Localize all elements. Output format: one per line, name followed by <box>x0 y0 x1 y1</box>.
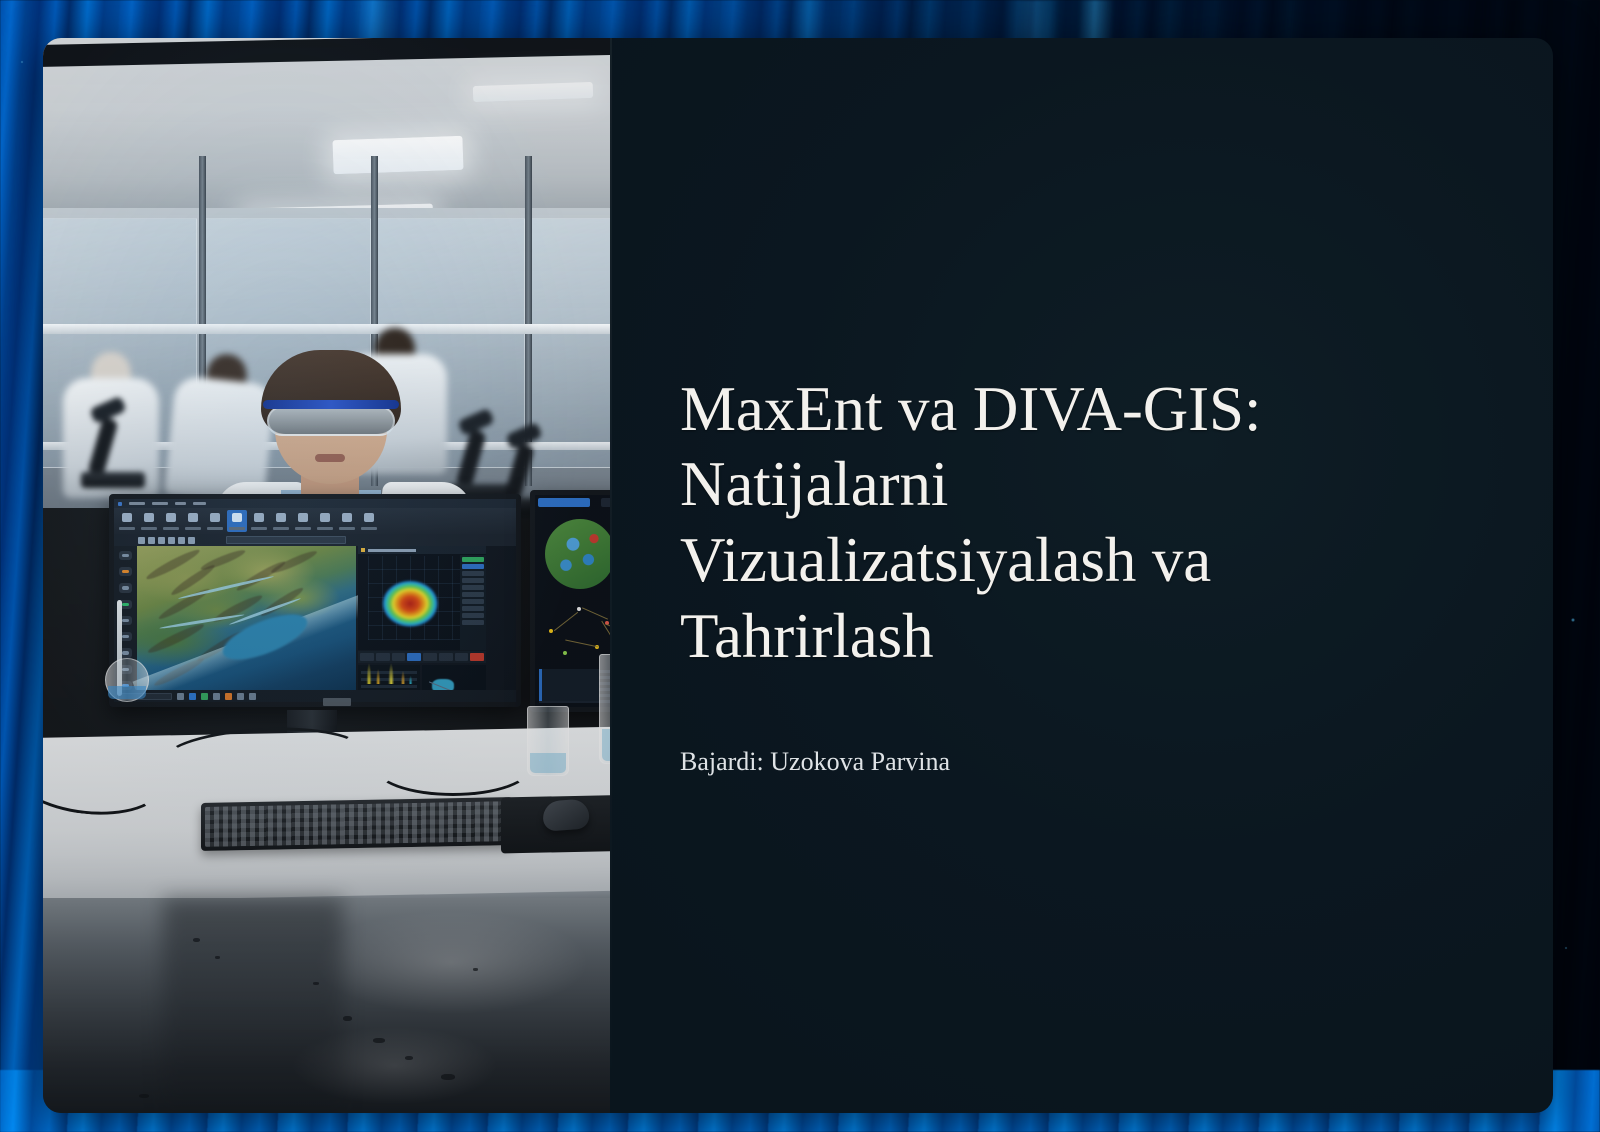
spectral-histogram-panel <box>358 665 420 690</box>
slide-text-panel: MaxEnt va DIVA-GIS: Natijalarni Vizualiz… <box>610 38 1553 1113</box>
ribbon-tool <box>249 510 269 532</box>
slide-subtitle-author: Bajardi: Uzokova Parvina <box>680 744 1489 779</box>
glass-beaker <box>527 706 569 776</box>
raster-icon <box>119 567 132 576</box>
ribbon-tool <box>337 510 357 532</box>
glass-flask <box>599 654 610 764</box>
info-card <box>539 669 599 701</box>
os-taskbar <box>114 690 516 702</box>
lab-bench-edge <box>43 324 610 334</box>
ribbon-tool <box>161 510 181 532</box>
main-monitor-screen <box>109 494 521 707</box>
safety-goggles <box>267 406 395 436</box>
topographic-map-canvas <box>137 546 356 690</box>
ribbon-tool <box>315 510 335 532</box>
slide-photo <box>43 38 610 1113</box>
desk-cable <box>373 736 533 796</box>
slide-card: MaxEnt va DIVA-GIS: Natijalarni Vizualiz… <box>43 38 1553 1113</box>
ribbon-tool <box>139 510 159 532</box>
ribbon-tool-active <box>227 510 247 532</box>
circular-range-map <box>545 519 610 589</box>
app-logo-icon <box>118 502 122 506</box>
ceiling-light <box>332 136 463 175</box>
ribbon-tool <box>359 510 379 532</box>
ribbon-tool <box>271 510 291 532</box>
secondary-toolbar <box>601 498 610 507</box>
gis-ribbon-toolbar <box>114 508 516 534</box>
ribbon-tool <box>117 510 137 532</box>
gis-menubar <box>114 499 516 508</box>
layers-icon <box>119 551 132 560</box>
layer-selector-dropdown <box>226 536 346 544</box>
keyboard <box>201 797 513 851</box>
slide-title: MaxEnt va DIVA-GIS: Natijalarni Vizualiz… <box>680 372 1410 674</box>
ribbon-tool <box>293 510 313 532</box>
secondary-monitor-screen <box>530 490 610 712</box>
glass-partition <box>529 218 610 468</box>
ribbon-tool <box>205 510 225 532</box>
petri-dish <box>105 658 149 702</box>
computer-mouse <box>542 798 590 831</box>
monitor-brand-logo <box>323 698 351 706</box>
network-graph <box>543 599 610 661</box>
lab-floor <box>43 898 610 1113</box>
ribbon-tool <box>183 510 203 532</box>
species-distribution-heatmap <box>358 546 486 650</box>
secondary-active-tab <box>538 498 590 507</box>
goggles-strap <box>263 400 399 409</box>
info-icon <box>119 583 132 592</box>
network-diagram-panel <box>422 665 486 690</box>
